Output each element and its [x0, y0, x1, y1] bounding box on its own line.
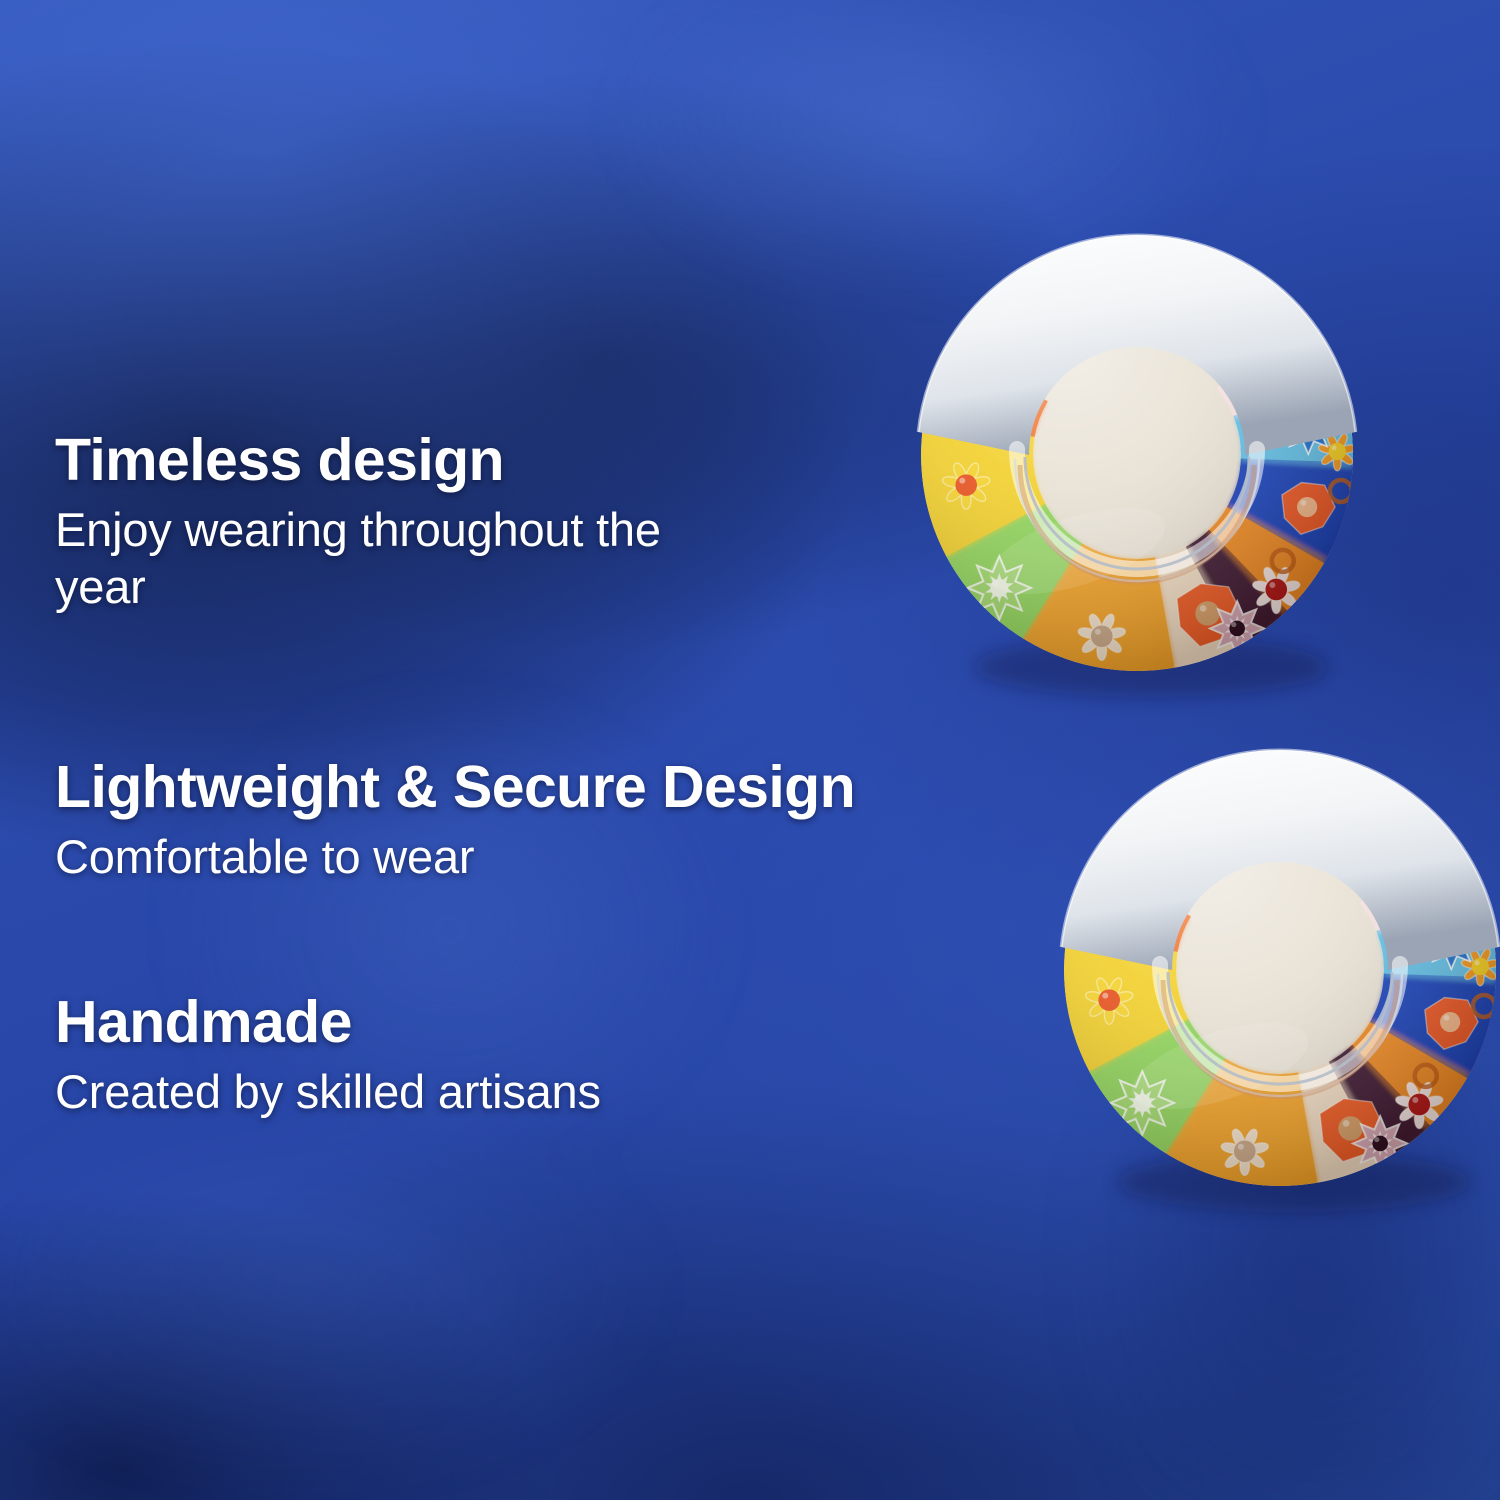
- feature-subtext: Enjoy wearing throughout the year: [55, 501, 755, 616]
- feature-heading: Timeless design: [55, 430, 1015, 491]
- product-image-earring-top: [905, 185, 1385, 705]
- feature-subtext: Created by skilled artisans: [55, 1063, 955, 1120]
- feature-block-handmade: Handmade Created by skilled artisans: [55, 992, 1015, 1120]
- product-image-earring-bottom: [1048, 700, 1500, 1220]
- feature-block-lightweight-secure-design: Lightweight & Secure Design Comfortable …: [55, 757, 1015, 885]
- feature-heading: Lightweight & Secure Design: [55, 757, 1015, 818]
- earring-graphic: [1048, 700, 1500, 1220]
- feature-panel: Timeless design Enjoy wearing throughout…: [0, 0, 1500, 1500]
- earring-graphic: [905, 185, 1385, 705]
- feature-block-timeless-design: Timeless design Enjoy wearing throughout…: [55, 430, 1015, 615]
- feature-subtext: Comfortable to wear: [55, 828, 955, 885]
- feature-heading: Handmade: [55, 992, 1015, 1053]
